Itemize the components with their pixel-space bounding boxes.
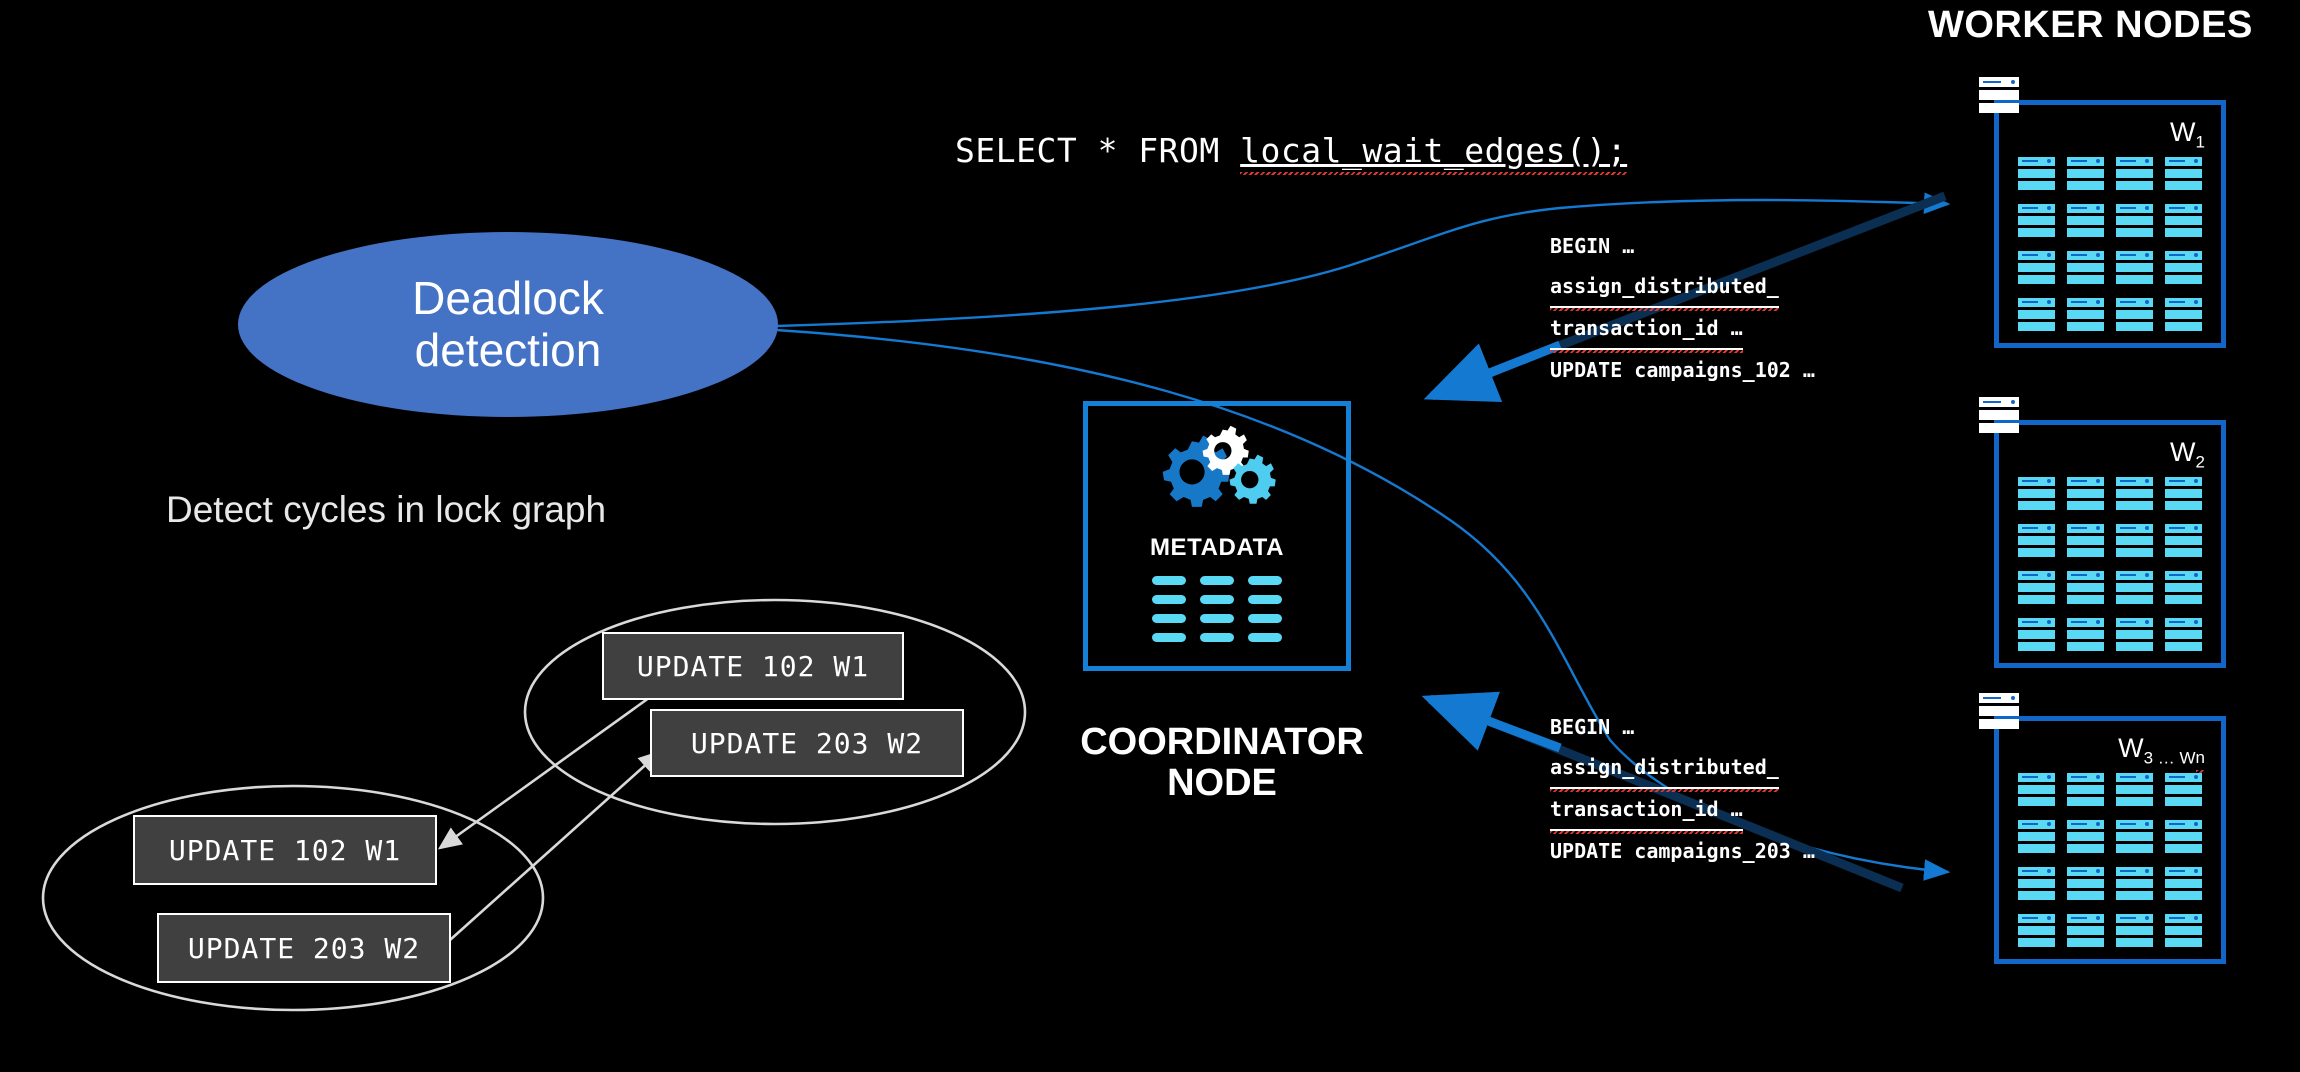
server-glyph: [2067, 914, 2104, 947]
server-glyph: [2067, 867, 2104, 900]
worker-3-index: 3 … W: [2144, 748, 2196, 767]
stack-icon-1: [1979, 77, 2019, 116]
lock-box-lower-203: UPDATE 203 W2: [157, 913, 451, 983]
txn-102-line4: UPDATE campaigns_102 …: [1550, 350, 1815, 390]
txn-203-line3: transaction_id …: [1550, 789, 1743, 831]
lock-box-upper-203: UPDATE 203 W2: [650, 709, 964, 777]
server-glyph: [2018, 618, 2055, 651]
worker-1-letter: W: [2170, 117, 2195, 147]
server-glyph: [2067, 298, 2104, 331]
coordinator-heading-line2: NODE: [1062, 763, 1382, 804]
server-glyph: [2116, 251, 2153, 284]
server-glyph: [2165, 571, 2202, 604]
server-glyph: [2165, 867, 2202, 900]
server-glyph: [2018, 867, 2055, 900]
worker-1-label: W1: [2170, 117, 2205, 152]
server-glyph: [2116, 618, 2153, 651]
gear-blue-icon: [1163, 436, 1230, 507]
server-glyph: [2067, 251, 2104, 284]
worker-3-letter: W: [2118, 733, 2143, 763]
metadata-bars-icon: [1152, 576, 1282, 642]
server-glyph: [2067, 204, 2104, 237]
server-glyph: [2165, 618, 2202, 651]
server-glyph: [2116, 204, 2153, 237]
stack-icon-2: [1979, 397, 2019, 436]
server-glyph: [2116, 773, 2153, 806]
server-glyph: [2067, 618, 2104, 651]
server-glyph: [2165, 524, 2202, 557]
worker-nodes-heading: WORKER NODES: [1928, 4, 2253, 47]
txn-203-line4: UPDATE campaigns_203 …: [1550, 831, 1815, 871]
deadlock-title-line2: detection: [415, 324, 602, 376]
txn-102-line1: BEGIN …: [1550, 226, 1815, 266]
server-glyph: [2067, 820, 2104, 853]
server-glyph: [2165, 157, 2202, 190]
server-glyph: [2018, 820, 2055, 853]
server-glyph: [2116, 477, 2153, 510]
server-glyph: [2165, 251, 2202, 284]
server-glyph: [2067, 524, 2104, 557]
worker-3-label: W3 … Wn: [2118, 733, 2205, 768]
server-glyph: [2116, 571, 2153, 604]
server-glyph: [2018, 251, 2055, 284]
worker-1-index: 1: [2196, 132, 2205, 151]
txn-203-line2: assign_distributed_: [1550, 747, 1779, 789]
server-glyph: [2018, 157, 2055, 190]
lock-box-lower-102: UPDATE 102 W1: [133, 815, 437, 885]
metadata-label: METADATA: [1088, 534, 1346, 562]
sql-query-line: SELECT * FROM local_wait_edges();: [955, 131, 1627, 170]
worker-n-index: n: [2196, 748, 2205, 768]
server-glyph: [2116, 298, 2153, 331]
server-glyph: [2116, 524, 2153, 557]
worker-2-letter: W: [2170, 437, 2195, 467]
lock-box-upper-102: UPDATE 102 W1: [602, 632, 904, 700]
transaction-block-203: BEGIN … assign_distributed_ transaction_…: [1550, 707, 1815, 871]
deadlock-title-line1: Deadlock: [412, 272, 604, 324]
server-glyph: [2018, 477, 2055, 510]
server-glyph: [2067, 571, 2104, 604]
server-glyph: [2018, 914, 2055, 947]
txn-102-line3: transaction_id …: [1550, 308, 1743, 350]
server-glyph: [2165, 204, 2202, 237]
coordinator-metadata-card: METADATA: [1083, 401, 1351, 671]
arrow-worker1-head: [1432, 345, 1560, 396]
coordinator-node-heading: COORDINATOR NODE: [1062, 722, 1382, 804]
worker-2-label: W2: [2170, 437, 2205, 472]
worker-node-3-n: W3 … Wn: [1994, 716, 2226, 964]
waitfor-arrow-up: [450, 752, 660, 940]
server-glyph: [2018, 204, 2055, 237]
worker-2-server-grid: [2018, 477, 2202, 651]
server-glyph: [2067, 477, 2104, 510]
transaction-block-102: BEGIN … assign_distributed_ transaction_…: [1550, 226, 1815, 390]
server-glyph: [2018, 571, 2055, 604]
server-glyph: [2067, 157, 2104, 190]
txn-102-line2: assign_distributed_: [1550, 266, 1779, 308]
server-glyph: [2067, 773, 2104, 806]
server-glyph: [2018, 524, 2055, 557]
worker-2-index: 2: [2196, 452, 2205, 471]
server-glyph: [2165, 820, 2202, 853]
server-glyph: [2165, 298, 2202, 331]
deadlock-subtitle: Detect cycles in lock graph: [166, 489, 606, 531]
stack-icon-3: [1979, 693, 2019, 732]
gears-icon: [1088, 420, 1346, 520]
arrow-worker3-head: [1430, 699, 1560, 748]
server-glyph: [2116, 820, 2153, 853]
worker-3-server-grid: [2018, 773, 2202, 947]
server-glyph: [2116, 157, 2153, 190]
coordinator-heading-line1: COORDINATOR: [1062, 722, 1382, 763]
worker-node-2: W2: [1994, 420, 2226, 668]
server-glyph: [2165, 914, 2202, 947]
worker-1-server-grid: [2018, 157, 2202, 331]
server-glyph: [2165, 477, 2202, 510]
server-glyph: [2018, 773, 2055, 806]
waitfor-arrow-down: [440, 690, 660, 848]
deadlock-detection-ellipse: Deadlock detection: [238, 232, 778, 417]
worker-node-1: W1: [1994, 100, 2226, 348]
sql-query-function: local_wait_edges();: [1240, 131, 1627, 170]
server-glyph: [2165, 773, 2202, 806]
txn-203-line1: BEGIN …: [1550, 707, 1815, 747]
server-glyph: [2116, 867, 2153, 900]
server-glyph: [2018, 298, 2055, 331]
server-glyph: [2116, 914, 2153, 947]
sql-query-prefix: SELECT * FROM: [955, 131, 1240, 170]
